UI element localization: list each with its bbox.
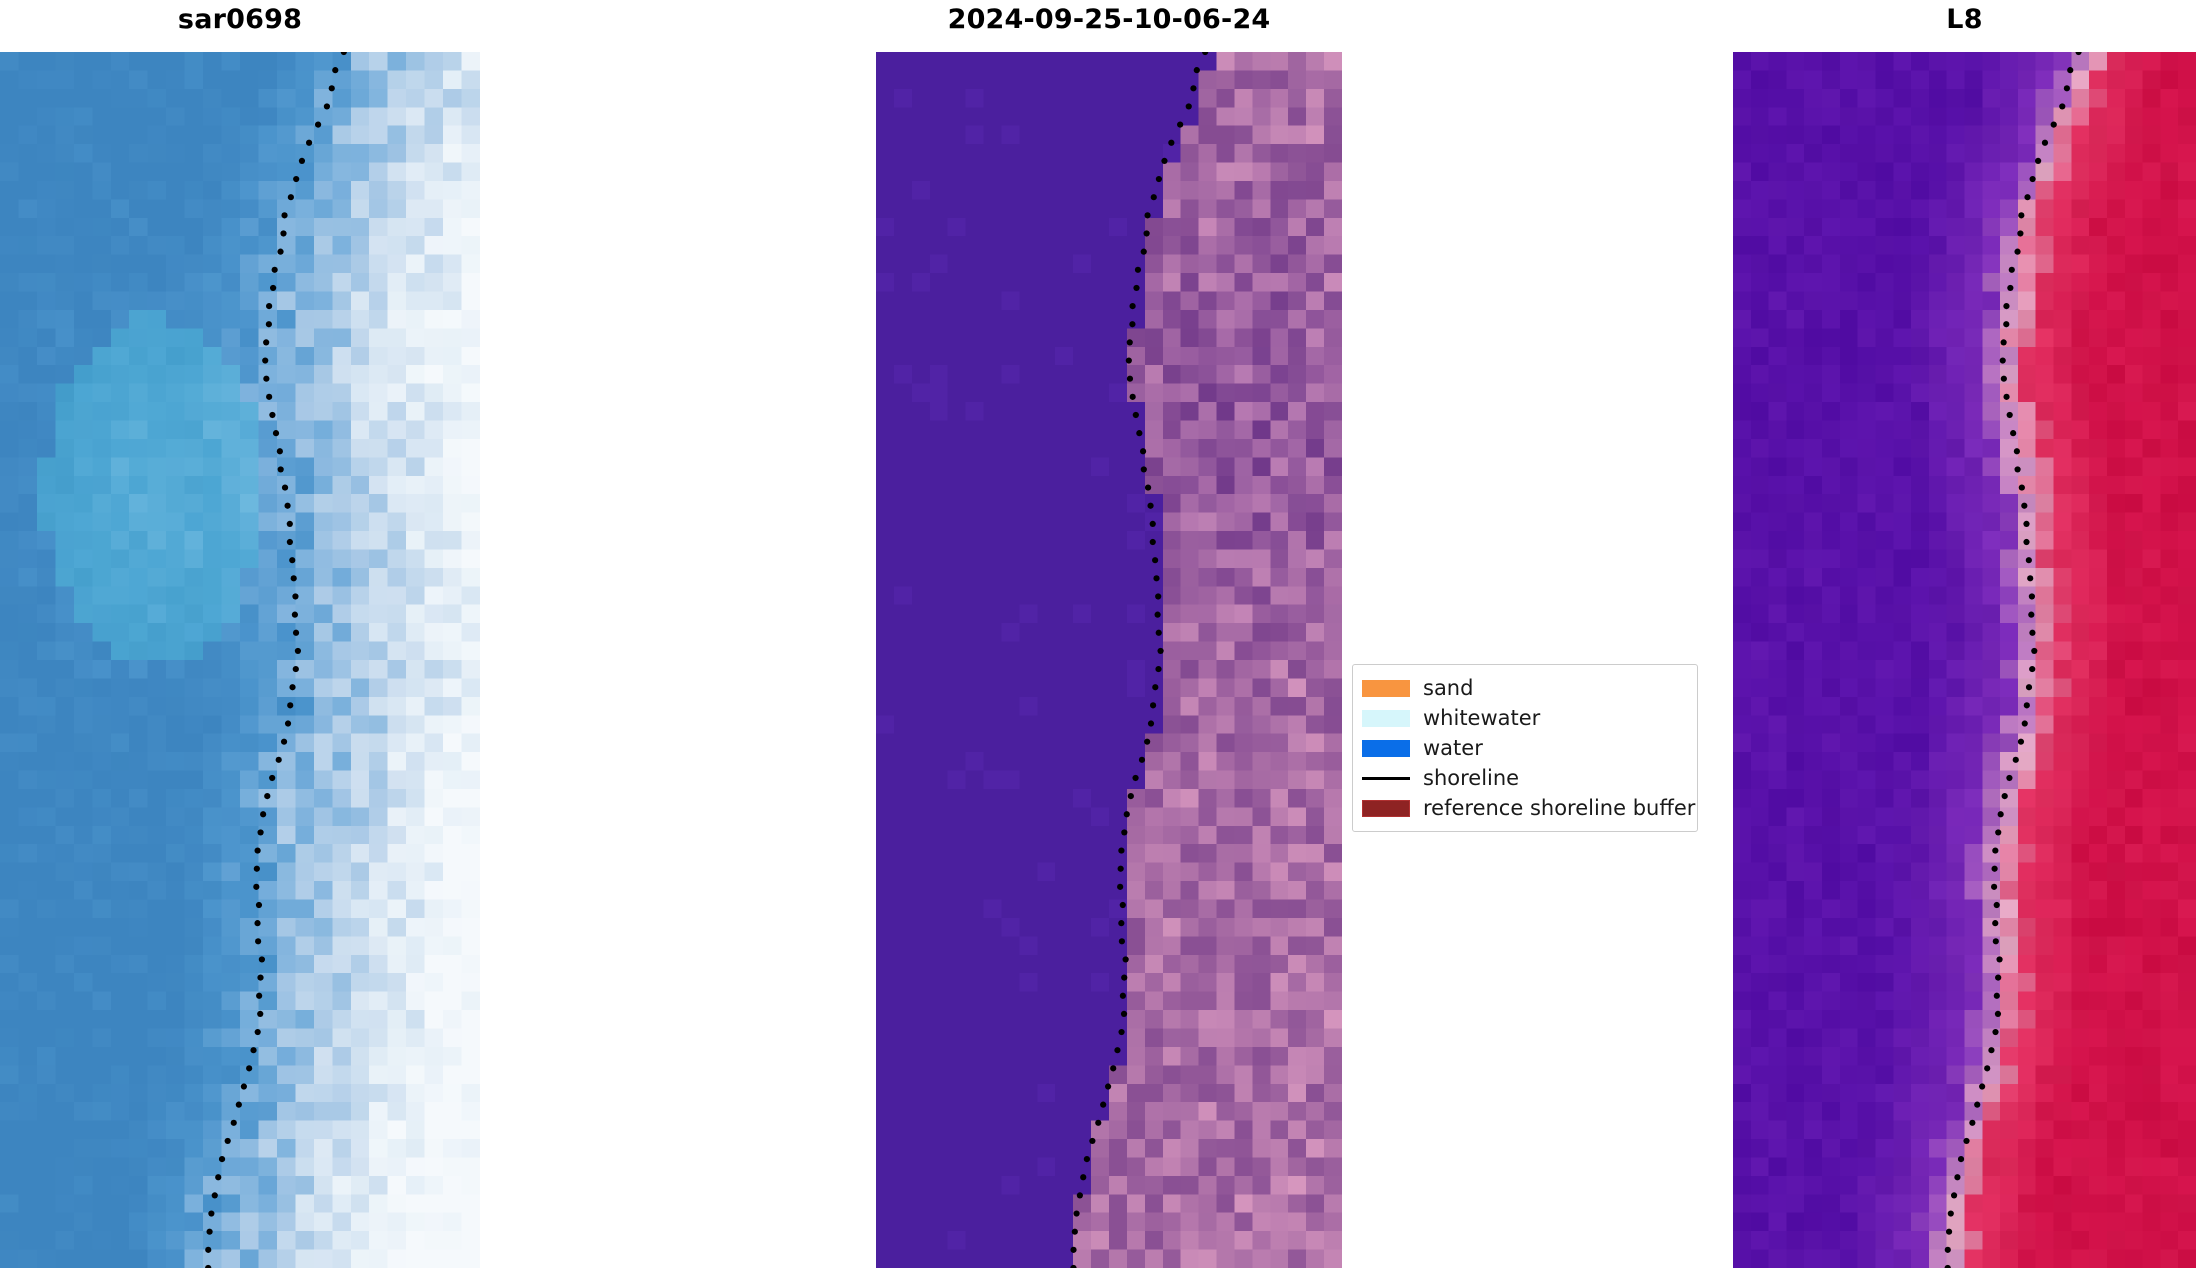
panel-sar[interactable] <box>0 52 480 1268</box>
l8-raster-image <box>1733 52 2196 1268</box>
legend-label-whitewater: whitewater <box>1423 708 1540 729</box>
legend-item-reference-shoreline-buffer[interactable]: reference shoreline buffer <box>1362 793 1687 823</box>
legend-item-shoreline[interactable]: shoreline <box>1362 763 1687 793</box>
sar-raster-image <box>0 52 480 1268</box>
legend-item-whitewater[interactable]: whitewater <box>1362 703 1687 733</box>
legend-label-reference-shoreline-buffer: reference shoreline buffer <box>1423 798 1695 819</box>
legend-swatch-reference-shoreline-buffer <box>1362 800 1410 817</box>
legend-swatch-shoreline <box>1362 770 1410 787</box>
legend-item-water[interactable]: water <box>1362 733 1687 763</box>
shoreline-line-icon <box>1362 777 1410 780</box>
legend-swatch-whitewater <box>1362 710 1410 727</box>
legend-box[interactable]: sand whitewater water shoreline referenc… <box>1352 664 1698 832</box>
panel-rgb[interactable] <box>876 52 1342 1268</box>
rgb-raster-image <box>876 52 1342 1268</box>
legend-swatch-sand <box>1362 680 1410 697</box>
legend-label-sand: sand <box>1423 678 1473 699</box>
panel-title-l8: L8 <box>1733 4 2196 35</box>
panel-title-rgb: 2024-09-25-10-06-24 <box>876 4 1342 35</box>
panel-title-sar: sar0698 <box>0 4 480 35</box>
figure-canvas: sar0698 2024-09-25-10-06-24 L8 sand whit… <box>0 0 2208 1283</box>
legend-label-water: water <box>1423 738 1483 759</box>
legend-swatch-water <box>1362 740 1410 757</box>
legend-label-shoreline: shoreline <box>1423 768 1519 789</box>
panel-l8[interactable] <box>1733 52 2196 1268</box>
legend-item-sand[interactable]: sand <box>1362 673 1687 703</box>
